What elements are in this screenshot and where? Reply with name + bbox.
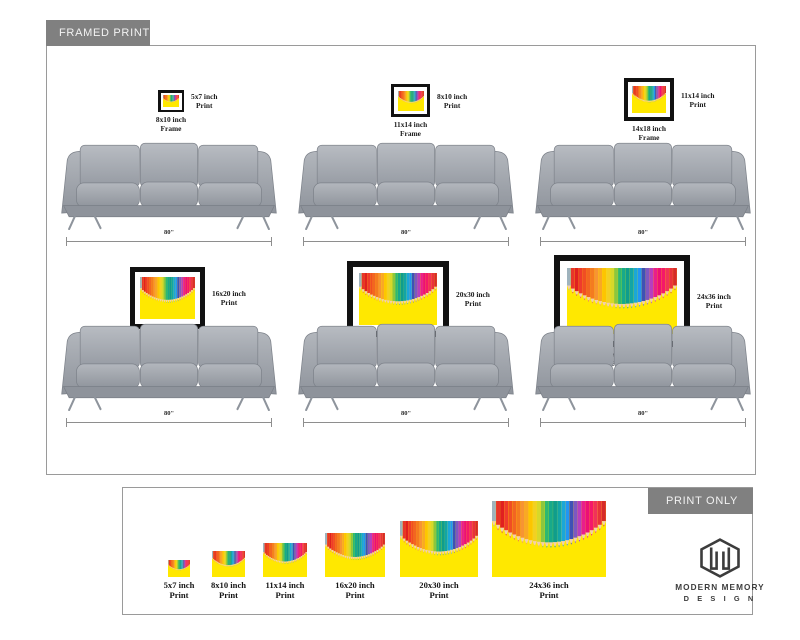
print-only-size-label-line2: Print xyxy=(164,590,195,600)
dimension-cap-right xyxy=(508,418,509,427)
frame-matte xyxy=(161,93,182,110)
sofa-width-dimension: 80" xyxy=(540,236,746,246)
print-only-tab-label: PRINT ONLY xyxy=(666,495,738,507)
framed-print-preview[interactable] xyxy=(624,78,674,121)
dimension-line xyxy=(303,422,509,423)
dimension-line xyxy=(540,241,746,242)
dimension-cap-left xyxy=(540,418,541,427)
print-only-size-label-line2: Print xyxy=(266,590,305,600)
print-size-label-line1: 11x14 inch xyxy=(681,91,714,100)
dimension-cap-left xyxy=(303,237,304,246)
print-size-label-line1: 20x30 inch xyxy=(456,290,490,299)
artwork-colored-pencils xyxy=(325,533,385,577)
print-only-item[interactable] xyxy=(492,501,606,577)
print-only-size-label-line1: 24x36 inch xyxy=(529,580,568,590)
print-only-size-label-line1: 5x7 inch xyxy=(164,580,195,590)
framed-print-tab: FRAMED PRINT xyxy=(46,20,150,46)
artwork-colored-pencils xyxy=(168,560,190,577)
print-only-size-label-line1: 8x10 inch xyxy=(211,580,246,590)
product-size-guide-page: FRAMED PRINT PRINT ONLY 5x7 inchPrint8x1… xyxy=(0,0,800,640)
print-only-size-label-line1: 11x14 inch xyxy=(266,580,305,590)
print-only-item[interactable] xyxy=(168,560,190,577)
sofa-illustration xyxy=(58,313,280,411)
sofa-width-dimension: 80" xyxy=(66,236,272,246)
print-size-label-line1: 24x36 inch xyxy=(697,292,731,301)
sofa-width-dimension: 80" xyxy=(540,417,746,427)
print-size-label: 5x7 inchPrint xyxy=(191,92,218,111)
sofa-width-label: 80" xyxy=(303,229,509,236)
framed-print-group: 11x14 inchPrint14x18 inchFrame 80" xyxy=(532,70,754,245)
hexagon-m-monogram-icon xyxy=(698,538,742,578)
print-only-size-label: 24x36 inchPrint xyxy=(529,580,568,601)
print-only-size-label-line2: Print xyxy=(529,590,568,600)
frame-size-label-line1: 11x14 inch xyxy=(394,120,427,129)
sofa-width-dimension: 80" xyxy=(303,236,509,246)
print-size-label: 8x10 inchPrint xyxy=(437,92,467,111)
print-size-label-line1: 5x7 inch xyxy=(191,92,218,101)
sofa-width-label: 80" xyxy=(66,229,272,236)
print-only-size-label: 20x30 inchPrint xyxy=(419,580,458,601)
brand-logo: MODERN MEMORY D E S I G N xyxy=(664,538,776,603)
framed-print-preview[interactable] xyxy=(391,84,430,117)
framed-print-group: 8x10 inchPrint11x14 inchFrame 80" xyxy=(295,70,517,245)
print-only-item[interactable] xyxy=(400,521,478,577)
print-only-size-label-line2: Print xyxy=(335,590,374,600)
print-size-label-line2: Print xyxy=(681,100,714,109)
framed-print-group: 16x20 inchPrint20x24 inchFrame 80" xyxy=(58,255,280,430)
print-only-size-label-line1: 20x30 inch xyxy=(419,580,458,590)
dimension-cap-right xyxy=(745,418,746,427)
print-only-size-label-line1: 16x20 inch xyxy=(335,580,374,590)
dimension-line xyxy=(303,241,509,242)
print-size-label-line2: Print xyxy=(212,298,246,307)
print-size-label-line2: Print xyxy=(456,299,490,308)
print-size-label-line1: 8x10 inch xyxy=(437,92,467,101)
print-size-label: 24x36 inchPrint xyxy=(697,292,731,311)
logo-name-line1: MODERN MEMORY xyxy=(664,583,776,592)
framed-print-group: 20x30 inchPrint24x36 inchFrame 80" xyxy=(295,255,517,430)
dimension-cap-left xyxy=(303,418,304,427)
dimension-cap-left xyxy=(66,418,67,427)
sofa-illustration xyxy=(532,132,754,230)
print-size-label-line2: Print xyxy=(437,101,467,110)
sofa-illustration xyxy=(295,313,517,411)
dimension-cap-right xyxy=(271,237,272,246)
print-size-label: 16x20 inchPrint xyxy=(212,289,246,308)
frame-size-label-line1: 8x10 inch xyxy=(156,115,186,124)
print-only-size-label: 16x20 inchPrint xyxy=(335,580,374,601)
print-only-size-label: 11x14 inchPrint xyxy=(266,580,305,601)
artwork-colored-pencils xyxy=(400,521,478,577)
print-size-label-line1: 16x20 inch xyxy=(212,289,246,298)
artwork-colored-pencils xyxy=(398,91,424,111)
framed-print-group: 5x7 inchPrint8x10 inchFrame 80" xyxy=(58,70,280,245)
dimension-cap-right xyxy=(508,237,509,246)
print-only-item[interactable] xyxy=(212,551,245,577)
artwork-colored-pencils xyxy=(212,551,245,577)
print-size-label: 20x30 inchPrint xyxy=(456,290,490,309)
print-only-size-label-line2: Print xyxy=(419,590,458,600)
dimension-cap-left xyxy=(540,237,541,246)
print-size-label-line2: Print xyxy=(191,101,218,110)
sofa-width-dimension: 80" xyxy=(66,417,272,427)
dimension-line xyxy=(66,241,272,242)
print-only-item[interactable] xyxy=(325,533,385,577)
artwork-colored-pencils xyxy=(263,543,307,577)
print-only-size-label-line2: Print xyxy=(211,590,246,600)
sofa-width-label: 80" xyxy=(66,410,272,417)
sofa-width-label: 80" xyxy=(303,410,509,417)
framed-print-group: 24x36 inchPrint28x40 inchFrame 80" xyxy=(532,255,754,430)
dimension-cap-right xyxy=(745,237,746,246)
print-size-label-line2: Print xyxy=(697,301,731,310)
print-only-size-label: 8x10 inchPrint xyxy=(211,580,246,601)
artwork-colored-pencils xyxy=(492,501,606,577)
dimension-cap-left xyxy=(66,237,67,246)
sofa-width-label: 80" xyxy=(540,410,746,417)
framed-print-preview[interactable] xyxy=(158,90,184,112)
sofa-illustration xyxy=(58,132,280,230)
sofa-width-label: 80" xyxy=(540,229,746,236)
frame-matte xyxy=(394,87,427,114)
frame-matte xyxy=(628,82,670,117)
sofa-illustration xyxy=(295,132,517,230)
print-only-size-label: 5x7 inchPrint xyxy=(164,580,195,601)
artwork-colored-pencils xyxy=(632,86,666,113)
artwork-colored-pencils xyxy=(163,95,179,107)
sofa-width-dimension: 80" xyxy=(303,417,509,427)
dimension-line xyxy=(540,422,746,423)
logo-name-line2: D E S I G N xyxy=(664,594,776,603)
dimension-line xyxy=(66,422,272,423)
print-only-item[interactable] xyxy=(263,543,307,577)
print-only-tab: PRINT ONLY xyxy=(648,488,753,514)
dimension-cap-right xyxy=(271,418,272,427)
framed-print-tab-label: FRAMED PRINT xyxy=(59,27,150,39)
print-size-label: 11x14 inchPrint xyxy=(681,91,714,110)
sofa-illustration xyxy=(532,313,754,411)
frame-size-label: 8x10 inchFrame xyxy=(156,115,186,134)
